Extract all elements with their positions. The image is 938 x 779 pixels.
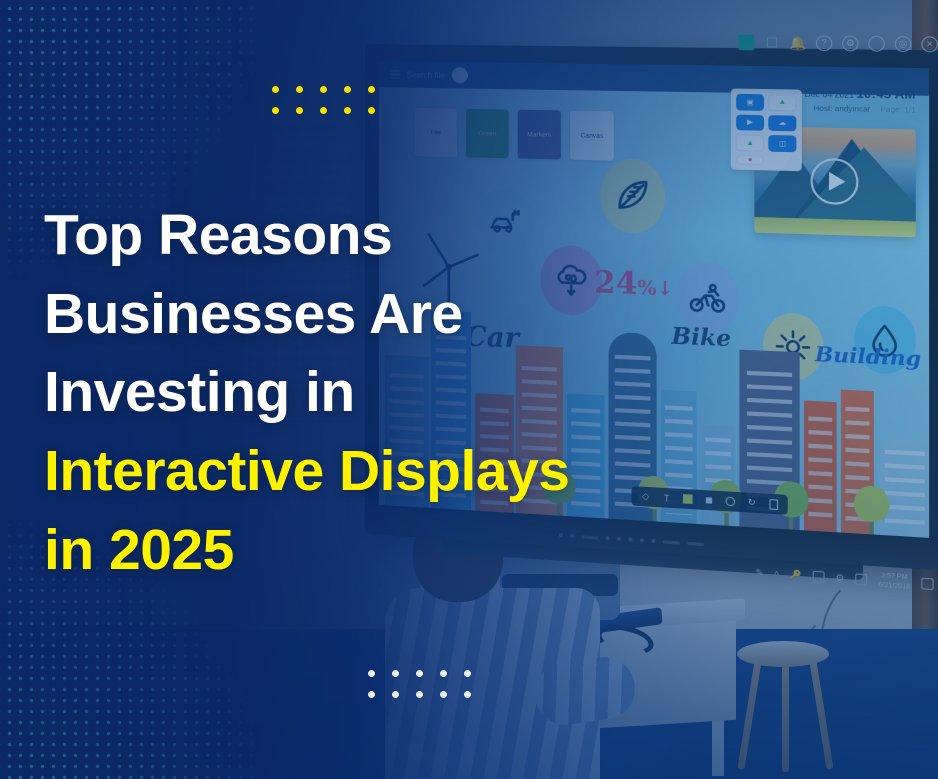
headline-line-3: Investing in (44, 353, 644, 432)
headline-line-1: Top Reasons (44, 196, 644, 275)
headline-line-5: in 2025 (44, 511, 644, 590)
dot-grid-top (272, 86, 375, 114)
page-title: Top Reasons Businesses Are Investing in … (44, 196, 644, 589)
headline-line-2: Businesses Are (44, 275, 644, 354)
headline-line-4: Interactive Displays (44, 432, 644, 511)
blog-banner: ☐ 🔔 ? ⚙ ◎ × Search file (0, 0, 938, 779)
dot-grid-bottom (368, 670, 471, 698)
